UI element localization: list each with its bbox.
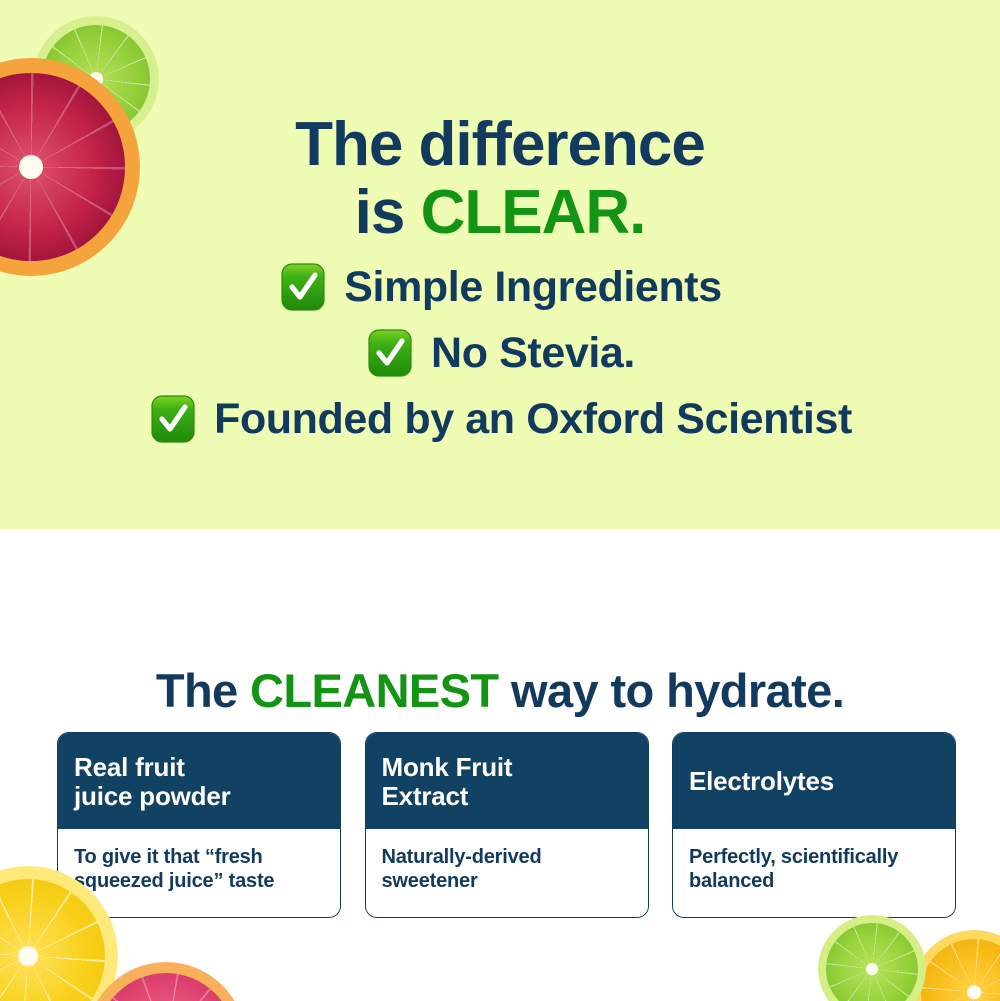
green-check-icon <box>278 262 328 312</box>
feature-card-monk-fruit-extract: Monk Fruit Extract Naturally-derived swe… <box>365 732 649 918</box>
lemon-core <box>18 946 38 966</box>
section-title-accent: CLEANEST <box>250 664 499 717</box>
feature-card-description: Naturally-derived sweetener <box>382 845 632 894</box>
checklist-item: Simple Ingredients <box>0 262 1000 312</box>
checklist-item-label: No Stevia. <box>431 329 635 378</box>
feature-card-description-line-2: balanced <box>689 869 939 893</box>
hero-section: The difference is CLEAR. <box>0 0 1000 529</box>
feature-card-header: Monk Fruit Extract <box>366 733 648 829</box>
feature-card-header: Real fruit juice powder <box>58 733 340 829</box>
section-title: The CLEANEST way to hydrate. <box>0 663 1000 718</box>
feature-card-title-line-2: juice powder <box>74 782 231 811</box>
green-check-icon <box>148 394 198 444</box>
orange-core <box>967 985 981 999</box>
feature-card-description-line-1: Naturally-derived <box>382 845 632 869</box>
checklist-item-label: Founded by an Oxford Scientist <box>214 395 852 444</box>
feature-card-body: Perfectly, scientifically balanced <box>673 829 955 917</box>
feature-card-body: Naturally-derived sweetener <box>366 829 648 917</box>
feature-card-title: Real fruit juice powder <box>74 753 231 811</box>
feature-card-description-line-2: squeezed juice” taste <box>74 869 324 893</box>
feature-card-description: Perfectly, scientifically balanced <box>689 845 939 894</box>
feature-card-description-line-2: sweetener <box>382 869 632 893</box>
feature-card-description-line-1: Perfectly, scientifically <box>689 845 939 869</box>
feature-card-title: Electrolytes <box>689 767 834 796</box>
feature-card-real-fruit-juice-powder: Real fruit juice powder To give it that … <box>57 732 341 918</box>
green-check-icon <box>365 328 415 378</box>
hero-title-line-2-prefix: is <box>355 178 421 247</box>
feature-card-title-line-1: Monk Fruit <box>382 753 513 782</box>
hero-title-accent: CLEAR. <box>421 178 646 247</box>
section-title-prefix: The <box>156 664 250 717</box>
checklist-item: Founded by an Oxford Scientist <box>0 394 1000 444</box>
feature-card-title-line-2: Extract <box>382 782 513 811</box>
lime-core <box>866 963 878 975</box>
feature-card-header: Electrolytes <box>673 733 955 829</box>
feature-card-title: Monk Fruit Extract <box>382 753 513 811</box>
section-title-suffix: way to hydrate. <box>499 664 845 717</box>
feature-card-title-line-1: Real fruit <box>74 753 231 782</box>
hero-title: The difference is CLEAR. <box>0 114 1000 244</box>
promo-page: The difference is CLEAR. <box>0 0 1000 1001</box>
feature-card-description-line-1: To give it that “fresh <box>74 845 324 869</box>
feature-card-electrolytes: Electrolytes Perfectly, scientifically b… <box>672 732 956 918</box>
hero-title-line-1: The difference <box>295 110 705 179</box>
checklist-item-label: Simple Ingredients <box>344 263 722 312</box>
benefits-checklist: Simple Ingredients <box>0 262 1000 444</box>
checklist-item: No Stevia. <box>0 328 1000 378</box>
feature-card-list: Real fruit juice powder To give it that … <box>57 732 956 918</box>
feature-card-description: To give it that “fresh squeezed juice” t… <box>74 845 324 894</box>
hero-title-line-2: is CLEAR. <box>0 182 1000 244</box>
feature-card-title-line-1: Electrolytes <box>689 767 834 796</box>
